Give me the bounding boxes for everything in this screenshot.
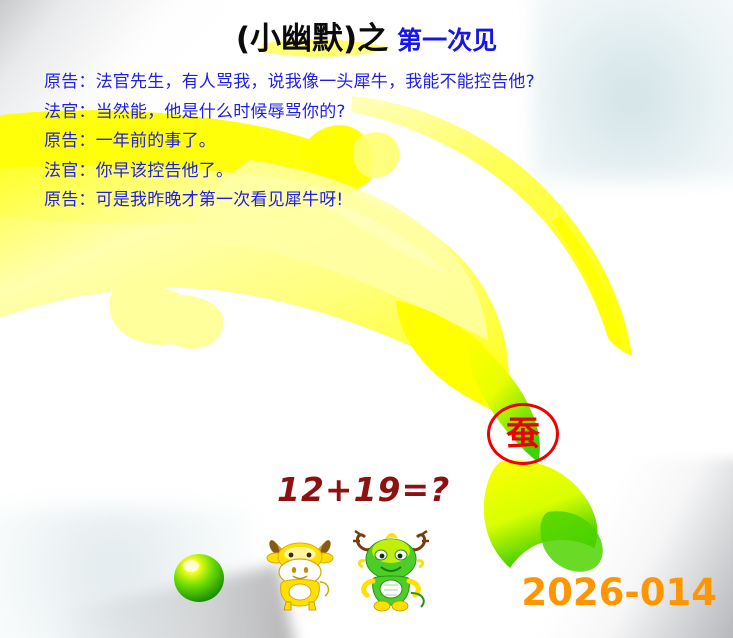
dialogue-line-1: 原告：法官先生，有人骂我，说我像一头犀牛，我能不能控告他? bbox=[44, 68, 535, 98]
dialogue-line-5: 原告：可是我昨晚才第一次看见犀牛呀! bbox=[44, 186, 535, 216]
math-question: 12+19=? bbox=[277, 470, 450, 509]
ox-mascot-icon bbox=[263, 530, 337, 612]
dialogue-block: 原告：法官先生，有人骂我，说我像一头犀牛，我能不能控告他? 法官：当然能，他是什… bbox=[44, 68, 535, 216]
dialogue-line-2: 法官：当然能，他是什么时候辱骂你的? bbox=[44, 98, 535, 128]
poster-canvas: (小幽默)之第一次见 原告：法官先生，有人骂我，说我像一头犀牛，我能不能控告他?… bbox=[0, 0, 733, 638]
dialogue-line-3: 原告：一年前的事了。 bbox=[44, 127, 535, 157]
red-seal-stamp: 蚕 bbox=[487, 403, 559, 465]
title-black-part: (小幽默)之 bbox=[236, 21, 388, 57]
dragon-mascot-icon bbox=[351, 527, 431, 613]
dialogue-line-4: 法官：你早该控告他了。 bbox=[44, 157, 535, 187]
seal-character: 蚕 bbox=[506, 417, 540, 451]
page-title: (小幽默)之第一次见 bbox=[0, 13, 733, 58]
issue-number: 2026-014 bbox=[521, 571, 717, 614]
title-blue-part: 第一次见 bbox=[397, 26, 497, 55]
sphere-icon bbox=[172, 552, 226, 604]
